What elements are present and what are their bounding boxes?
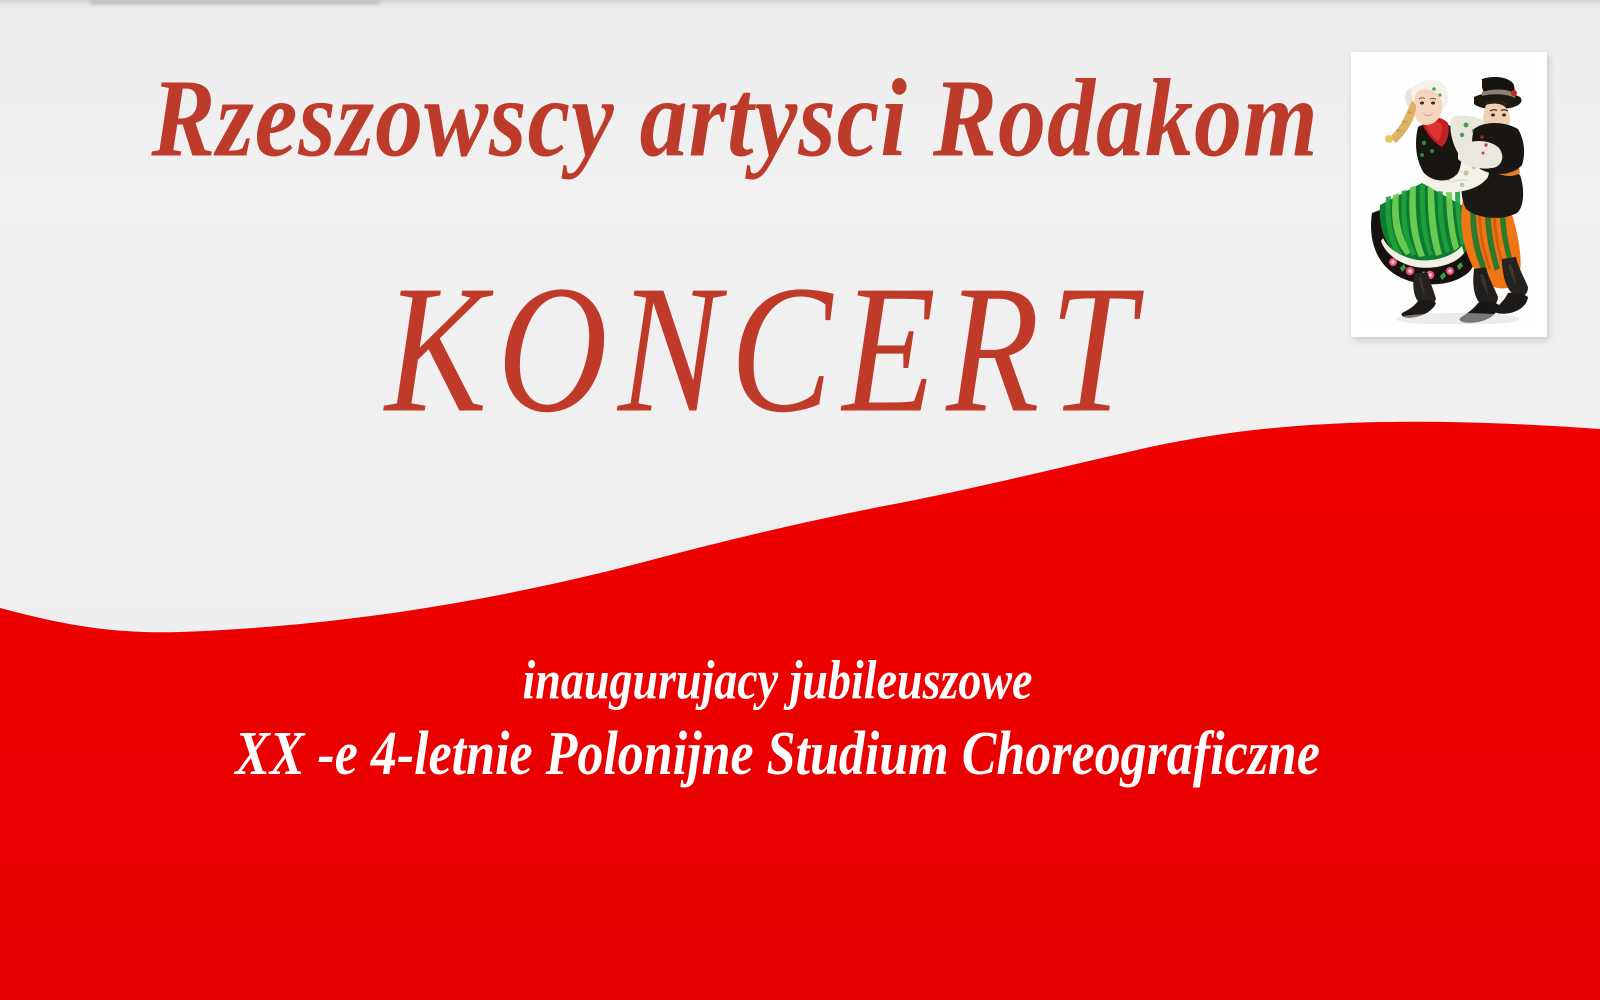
- subtitle-block: inaugurujacy jubileuszowe XX -e 4-letnie…: [0, 648, 1555, 780]
- photo-frame: [1351, 52, 1547, 337]
- page-title: KONCERT: [0, 258, 1545, 441]
- subtitle-line-2: XX -e 4-letnie Polonijne Studium Choreog…: [0, 719, 1555, 791]
- polish-folk-dancers-photo: [1362, 63, 1536, 324]
- page-headline: Rzeszowscy artysci Rodakom: [0, 58, 1470, 178]
- subtitle-line-1: inaugurujacy jubileuszowe: [0, 648, 1555, 712]
- poster-canvas: Rzeszowscy artysci Rodakom KONCERT inaug…: [0, 0, 1600, 1000]
